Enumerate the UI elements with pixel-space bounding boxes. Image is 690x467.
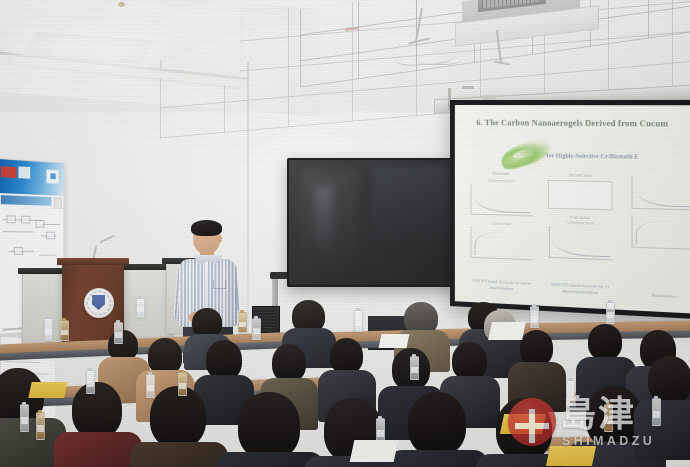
lecture-hall-photo: 6. The Carbon Nanoaerogels Derived from … (0, 0, 690, 467)
water-bottle (146, 374, 155, 398)
slide-footnote-2: MWCNTs-based electrode for Cr detection/… (544, 281, 617, 297)
screen-glare-2 (373, 166, 451, 278)
poster-subheader (1, 195, 52, 206)
slide-chart-1a (471, 184, 532, 217)
slide-column-1: Materials Current response Linear range (467, 170, 537, 267)
slide-footnote-3: Performance c (627, 291, 690, 301)
slide-column-2: Second step Peak current Calibration cur… (544, 171, 617, 266)
slide-title: 6. The Carbon Nanoaerogels Derived from … (476, 118, 690, 129)
wall-seam (160, 60, 162, 70)
screen-bracket-arm (462, 86, 474, 89)
slide-chart-3b (632, 215, 690, 250)
shimadzu-watermark: 島津 SHIMADZU (508, 394, 684, 456)
logo-cross-horizontal (515, 423, 549, 429)
water-bottle (252, 318, 261, 340)
water-bottle (86, 370, 95, 394)
presenter-ear (217, 235, 222, 243)
water-bottle (44, 318, 53, 341)
water-bottle (354, 310, 363, 332)
slide-column-3 (627, 173, 690, 256)
ceiling-sensor-icon (118, 2, 125, 7)
projection-screen-surface: 6. The Carbon Nanoaerogels Derived from … (455, 105, 690, 314)
handout-paper-yellow (28, 382, 67, 398)
slide-footnote-1: CNT/PT-based electrode for nitrite deter… (467, 277, 537, 293)
poster-logo-box (46, 169, 59, 184)
water-bottle (606, 302, 615, 324)
handout-paper (488, 322, 526, 340)
watermark-japanese-text: 島津 (560, 396, 636, 434)
water-bottle (530, 306, 539, 328)
poster-header-banner (0, 159, 63, 196)
handout-paper (350, 440, 399, 462)
water-bottle (114, 322, 123, 344)
water-bottle (20, 404, 29, 432)
slide-column-3-heading (627, 173, 690, 174)
presenter-hair (191, 220, 222, 236)
water-bottle (410, 356, 419, 380)
watermark-latin-text: SHIMADZU (562, 434, 655, 448)
wall-corner-edge (247, 62, 249, 352)
slide-column-1-heading: Materials (467, 170, 537, 176)
screen-reflection (315, 186, 333, 256)
university-emblem-ring (87, 291, 111, 315)
poster-badge-red (1, 166, 17, 178)
tea-bottle (238, 312, 247, 333)
projection-screen-frame: 6. The Carbon Nanoaerogels Derived from … (450, 100, 690, 319)
presenter-shirt-pocket (213, 280, 226, 289)
tea-bottle (60, 320, 69, 341)
poster-badge-white (18, 166, 30, 178)
tea-bottle (178, 372, 187, 396)
lectern-top-surface (57, 258, 129, 265)
slide-column-2-heading: Second step (544, 171, 617, 178)
wall-display-screen[interactable] (287, 158, 458, 287)
water-bottle (136, 298, 145, 318)
slide-diagram-2a (548, 180, 613, 210)
slide-chart-2b (548, 226, 612, 260)
shimadzu-logo-icon (508, 398, 556, 446)
ceiling-cable-2 (418, 50, 464, 65)
slide-subtitle: for Highly-Selective Cr/Bismuth E (546, 153, 690, 161)
tea-bottle (36, 412, 45, 440)
handout-paper (379, 334, 410, 348)
slide-chart-3a (632, 176, 690, 210)
slide-chart-1b (471, 227, 532, 261)
